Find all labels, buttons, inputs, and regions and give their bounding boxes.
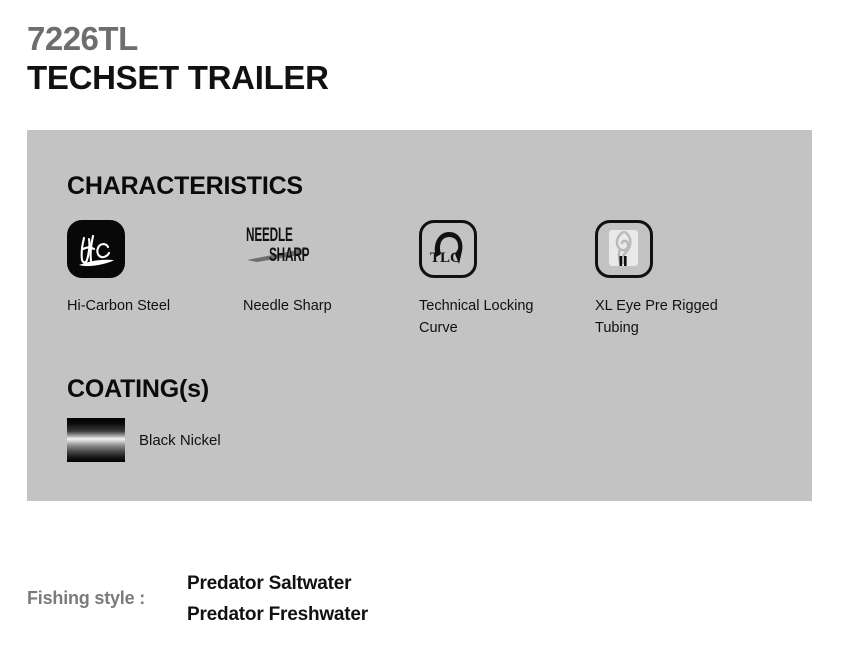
needle-sharp-text-top: NEEDLE bbox=[246, 225, 293, 247]
characteristic-item: TLC Technical Locking Curve bbox=[419, 218, 595, 340]
coating-label: Black Nickel bbox=[139, 432, 221, 449]
icon-container: TLC bbox=[419, 218, 595, 280]
coating-heading: COATING(s) bbox=[67, 375, 209, 404]
characteristic-label: Hi-Carbon Steel bbox=[67, 296, 197, 318]
svg-text:TLC: TLC bbox=[430, 250, 461, 266]
needle-sharp-text-bottom: SHARP bbox=[269, 245, 309, 267]
needle-sharp-icon: NEEDLE SHARP bbox=[243, 223, 327, 275]
page-header: 7226TL TECHSET TRAILER bbox=[27, 22, 817, 97]
fishing-style-label: Fishing style : bbox=[27, 568, 187, 609]
characteristic-label: Needle Sharp bbox=[243, 296, 373, 318]
characteristics-grid: Hi-Carbon Steel NEEDLE SHARP Needle Shar… bbox=[67, 218, 797, 340]
product-code: 7226TL bbox=[27, 22, 817, 57]
fishing-style-values: Predator Saltwater Predator Freshwater bbox=[187, 568, 368, 631]
specification-panel: CHARACTERISTICS Hi-Carbo bbox=[27, 130, 812, 501]
characteristic-label: Technical Locking Curve bbox=[419, 296, 549, 340]
characteristic-label: XL Eye Pre Rigged Tubing bbox=[595, 296, 725, 340]
characteristic-item: NEEDLE SHARP Needle Sharp bbox=[243, 218, 419, 340]
coating-item: Black Nickel bbox=[67, 418, 221, 462]
fishing-style-section: Fishing style : Predator Saltwater Preda… bbox=[27, 568, 368, 631]
xl-eye-pre-rigged-tubing-icon bbox=[595, 220, 653, 278]
characteristic-item: XL Eye Pre Rigged Tubing bbox=[595, 218, 771, 340]
technical-locking-curve-icon: TLC bbox=[419, 220, 477, 278]
icon-container bbox=[595, 218, 771, 280]
hi-carbon-steel-icon bbox=[67, 220, 125, 278]
characteristics-heading: CHARACTERISTICS bbox=[67, 172, 303, 201]
product-name: TECHSET TRAILER bbox=[27, 59, 817, 97]
characteristic-item: Hi-Carbon Steel bbox=[67, 218, 243, 340]
icon-container bbox=[67, 218, 243, 280]
fishing-style-value: Predator Freshwater bbox=[187, 599, 368, 630]
black-nickel-swatch bbox=[67, 418, 125, 462]
fishing-style-value: Predator Saltwater bbox=[187, 568, 368, 599]
icon-container: NEEDLE SHARP bbox=[243, 218, 419, 280]
